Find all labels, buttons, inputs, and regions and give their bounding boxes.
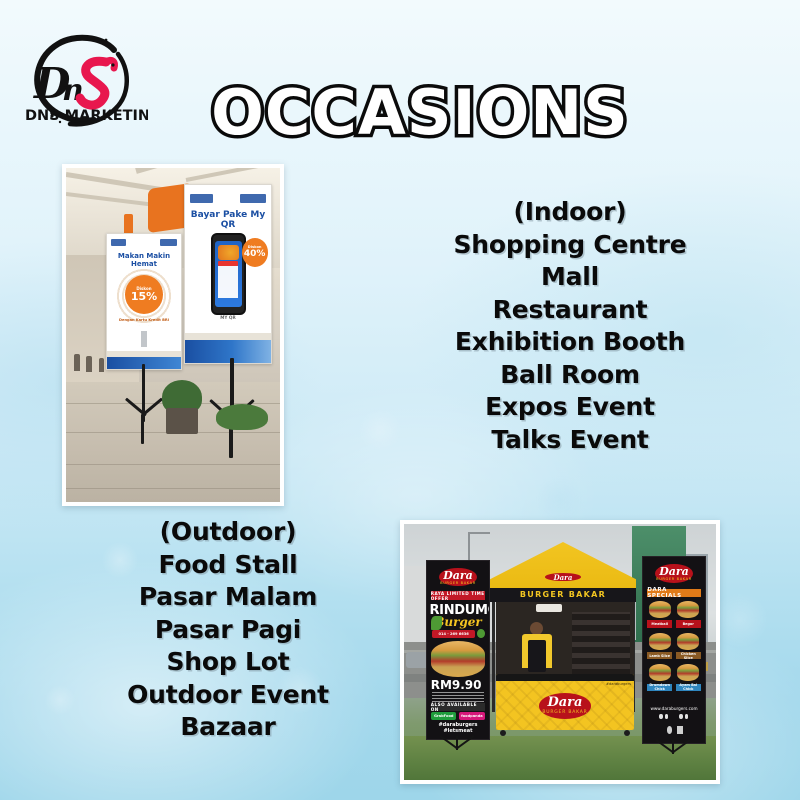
indoor-item: Shopping Centre xyxy=(420,229,720,262)
valance-text: BURGER BAKAR xyxy=(520,590,606,599)
dns-monogram: D n xyxy=(33,59,84,108)
youtube-icon xyxy=(685,714,689,718)
stall-counter: Dara BURGER BAKAR #daraburgers xyxy=(496,674,634,730)
right-banner-headline: Bayar Pake My QR xyxy=(188,210,267,230)
burger-photo xyxy=(431,641,486,677)
indoor-item: Exhibition Booth xyxy=(420,326,720,359)
outdoor-item: Outdoor Event xyxy=(78,679,378,712)
canopy-valance: BURGER BAKAR xyxy=(490,588,636,602)
offer-band: RAYA LIMITED TIME OFFER xyxy=(431,591,486,600)
counter-handle: #daraburgers xyxy=(606,682,631,686)
qr-code-icon xyxy=(218,266,238,298)
menu-item: Chicken Slice xyxy=(676,631,701,659)
bank-bri-logo-icon xyxy=(240,194,266,203)
vendor-apron xyxy=(528,640,546,672)
mall-scene: Makan Makin Hemat Diskon 15% Dengan Kart… xyxy=(66,168,280,502)
menu-item: Lamb Slice xyxy=(647,631,672,659)
outdoor-occasions-list: (Outdoor) Food Stall Pasar Malam Pasar P… xyxy=(78,516,378,744)
halal-icon xyxy=(667,726,673,733)
dns-marketing-logo: D n DNS MARKETING xyxy=(18,28,148,140)
banner-tripod-left xyxy=(432,736,482,770)
outdoor-item: Bazaar xyxy=(78,711,378,744)
left-banner-sub: Dengan Kartu Kredit BRI xyxy=(110,318,178,322)
indoor-occasions-list: (Indoor) Shopping Centre Mall Restaurant… xyxy=(420,196,720,456)
bumn-logo-icon xyxy=(190,194,213,203)
menu-item: Begor xyxy=(676,600,701,628)
food-stall-scene: Dara BURGER BAKAR Dara xyxy=(404,524,716,780)
indoor-item: Expos Event xyxy=(420,391,720,424)
banner-hashtags: #daraburgers #letsmeat xyxy=(431,722,486,735)
grabfood-badge: GrabFood xyxy=(431,712,456,719)
canopy-logo: Dara xyxy=(545,573,580,581)
menu-item-label: Drumdown Chick xyxy=(647,684,672,691)
outdoor-item: Pasar Malam xyxy=(78,581,378,614)
phone-pill: 014 - 269 6636 xyxy=(432,630,475,638)
indoor-heading: (Indoor) xyxy=(420,196,720,229)
menu-item: Meatball xyxy=(647,600,672,628)
phone-mockup xyxy=(211,233,246,315)
logo-wordmark: DNS MARKETING xyxy=(25,108,148,124)
menu-item: Drumdown Chick xyxy=(647,663,672,691)
snake-s-icon xyxy=(80,60,115,105)
right-banner-discount-badge: Diskon 40% xyxy=(242,238,268,266)
banner-website: www.daraburgers.com xyxy=(647,706,702,711)
outdoor-item: Shop Lot xyxy=(78,646,378,679)
snake-eye-icon xyxy=(111,63,114,66)
banner-stand-left: Makan Makin Hemat Diskon 15% Dengan Kart… xyxy=(106,233,182,370)
available-label: ALSO AVAILABLE ON xyxy=(431,703,486,710)
leaf-icon xyxy=(431,616,442,630)
banner-tripod-right xyxy=(648,740,698,774)
whatsapp-icon xyxy=(477,629,485,639)
banner-stand-right: Bayar Pake My QR Diskon 40% xyxy=(184,184,272,364)
poster-canvas: D n DNS MARKETING OCCASIONS (Indoor) Sho… xyxy=(0,0,800,800)
outdoor-item: Food Stall xyxy=(78,549,378,582)
outdoor-photo: Dara BURGER BAKAR Dara xyxy=(400,520,720,784)
menu-item-label: Begor xyxy=(676,620,701,627)
outdoor-heading: (Outdoor) xyxy=(78,516,378,549)
indoor-item: Mall xyxy=(420,261,720,294)
left-banner-discount-badge: Diskon 15% xyxy=(125,275,163,314)
rollup-banner-left: Dara BURGER BAKAR RAYA LIMITED TIME OFFE… xyxy=(426,560,490,740)
indoor-item: Restaurant xyxy=(420,294,720,327)
facebook-icon xyxy=(659,714,663,718)
menu-item-label: Meatball xyxy=(647,620,672,627)
left-banner-headline: Makan Makin Hemat xyxy=(110,252,178,268)
menu-item: Ayam Bal Chick xyxy=(676,663,701,691)
counter-logo: Dara BURGER BAKAR xyxy=(539,693,591,719)
indoor-photo: Makan Makin Hemat Diskon 15% Dengan Kart… xyxy=(62,164,284,506)
certification-icon xyxy=(677,726,683,733)
indoor-item: Ball Room xyxy=(420,359,720,392)
right-banner-fineprint: MY QR xyxy=(188,315,267,320)
menu-header: DARA SPECIALS xyxy=(647,589,700,597)
tiktok-icon xyxy=(679,714,683,718)
menu-board xyxy=(572,612,630,680)
page-title: OCCASIONS xyxy=(210,82,630,144)
menu-item-label: Ayam Bal Chick xyxy=(676,684,701,691)
foodpanda-badge: foodpanda xyxy=(459,712,484,719)
canopy-tent: Dara BURGER BAKAR xyxy=(490,542,636,602)
menu-item-label: Chicken Slice xyxy=(676,652,701,659)
banner-price: RM9.90 xyxy=(431,678,486,692)
rollup-banner-right: Dara BURGER BAKAR DARA SPECIALS Meatball… xyxy=(642,556,706,744)
indoor-item: Talks Event xyxy=(420,424,720,457)
outdoor-item: Pasar Pagi xyxy=(78,614,378,647)
instagram-icon xyxy=(665,714,669,718)
menu-item-label: Lamb Slice xyxy=(647,652,672,659)
